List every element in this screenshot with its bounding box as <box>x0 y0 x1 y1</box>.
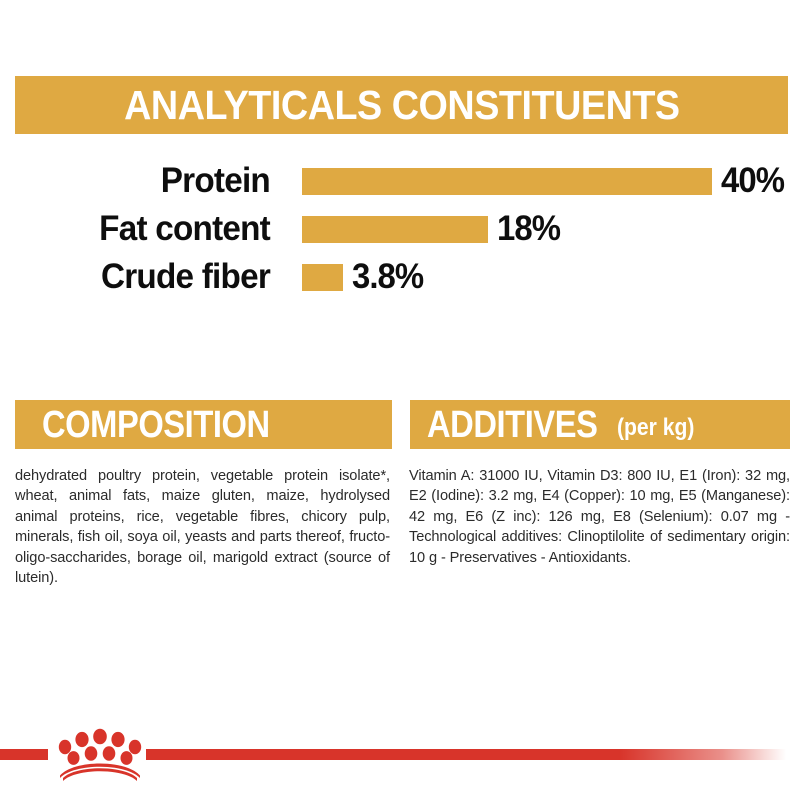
additives-title: ADDITIVES <box>427 406 597 444</box>
bar-fill-protein <box>302 168 712 195</box>
additives-text: Vitamin A: 31000 IU, Vitamin D3: 800 IU,… <box>409 466 790 568</box>
composition-header-band: COMPOSITION <box>15 400 392 449</box>
chart-row: Fat content 18% <box>0 206 800 252</box>
bar-value-fat-content: 18% <box>497 206 560 252</box>
bar-label-fat-content: Fat content <box>52 206 271 252</box>
bar-label-protein: Protein <box>52 158 271 204</box>
nutrition-panel: ANALYTICALS CONSTITUENTS Protein 40% Fat… <box>0 0 800 800</box>
analyticals-bar-chart: Protein 40% Fat content 18% Crude fiber … <box>0 158 800 308</box>
composition-text: dehydrated poultry protein, vegetable pr… <box>15 466 390 588</box>
footer-rule-left <box>0 749 48 760</box>
bar-value-protein: 40% <box>721 158 784 204</box>
chart-row: Protein 40% <box>0 158 800 204</box>
bar-label-crude-fiber: Crude fiber <box>52 254 271 300</box>
bar-value-crude-fiber: 3.8% <box>352 254 423 300</box>
chart-row: Crude fiber 3.8% <box>0 254 800 300</box>
additives-header-band: ADDITIVES (per kg) <box>410 400 790 449</box>
analyticals-header-band: ANALYTICALS CONSTITUENTS <box>15 76 788 134</box>
footer-rule-right <box>146 749 786 760</box>
additives-subtitle: (per kg) <box>617 416 694 440</box>
bar-fill-fat-content <box>302 216 488 243</box>
royal-canin-crown-icon <box>56 725 144 781</box>
composition-title: COMPOSITION <box>42 406 270 444</box>
bar-fill-crude-fiber <box>302 264 343 291</box>
analyticals-title: ANALYTICALS CONSTITUENTS <box>124 85 679 126</box>
